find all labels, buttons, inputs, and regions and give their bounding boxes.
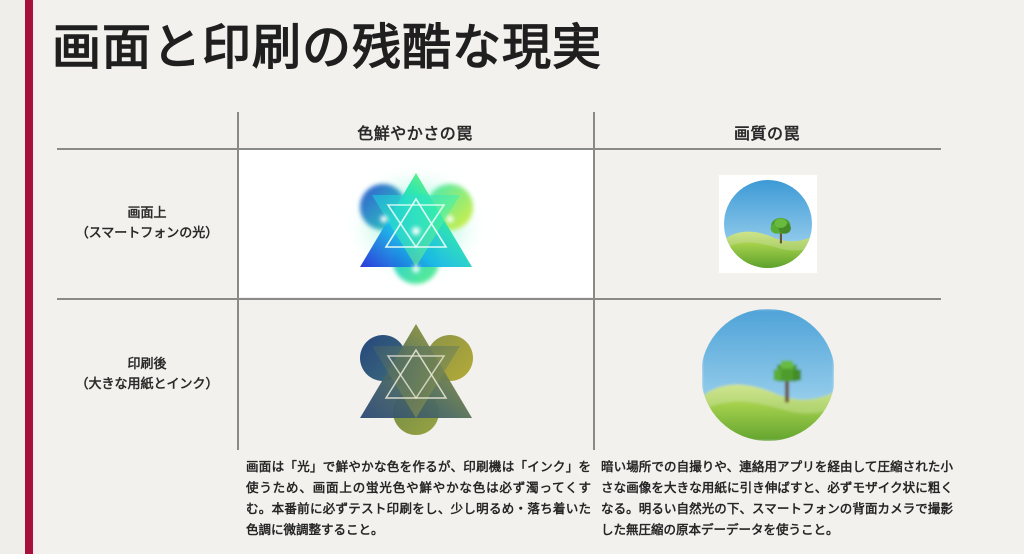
- accent-bar-glow: [33, 0, 42, 554]
- row-header-print-main: 印刷後: [127, 354, 166, 374]
- row-header-screen-sub: （スマートフォンの光）: [76, 223, 219, 243]
- pixelated-landscape-photo: [701, 309, 835, 441]
- row-header-screen: 画面上 （スマートフォンの光）: [57, 148, 237, 298]
- accent-bar: [25, 0, 33, 554]
- paper-margin: [0, 0, 25, 554]
- cell-screen-quality: [595, 150, 941, 297]
- muted-triangles-graphic: [336, 309, 496, 441]
- sharp-landscape-photo: [724, 180, 812, 268]
- row-header-print-sub: （大きな用紙とインク）: [75, 374, 218, 394]
- slide-canvas: 画面と印刷の残酷な現実 色鮮やかさの罠 画質の罠 画面上 （スマートフォンの光）…: [0, 0, 1024, 554]
- photo-card-sharp: [719, 175, 817, 273]
- row-header-print: 印刷後 （大きな用紙とインク）: [57, 298, 237, 450]
- column-header-quality: 画質の罠: [593, 118, 941, 146]
- note-quality-trap: 暗い場所での自撮りや、連絡用アプリを経由して圧縮された小さな画像を大きな用紙に引…: [601, 457, 953, 541]
- page-title: 画面と印刷の残酷な現実: [52, 22, 602, 75]
- note-color-trap: 画面は「光」で鮮やかな色を作るが、印刷機は「インク」を使うため、画面上の蛍光色や…: [246, 457, 591, 541]
- neon-triangles-graphic: [336, 159, 496, 289]
- row-header-screen-main: 画面上: [127, 203, 166, 223]
- cell-screen-color: [239, 150, 593, 297]
- photo-card-pixelated: [699, 307, 837, 443]
- cell-print-quality: [595, 300, 941, 450]
- column-header-color: 色鮮やかさの罠: [237, 118, 593, 146]
- cell-print-color: [239, 300, 593, 450]
- comparison-table: 色鮮やかさの罠 画質の罠 画面上 （スマートフォンの光） 印刷後 （大きな用紙と…: [57, 112, 941, 450]
